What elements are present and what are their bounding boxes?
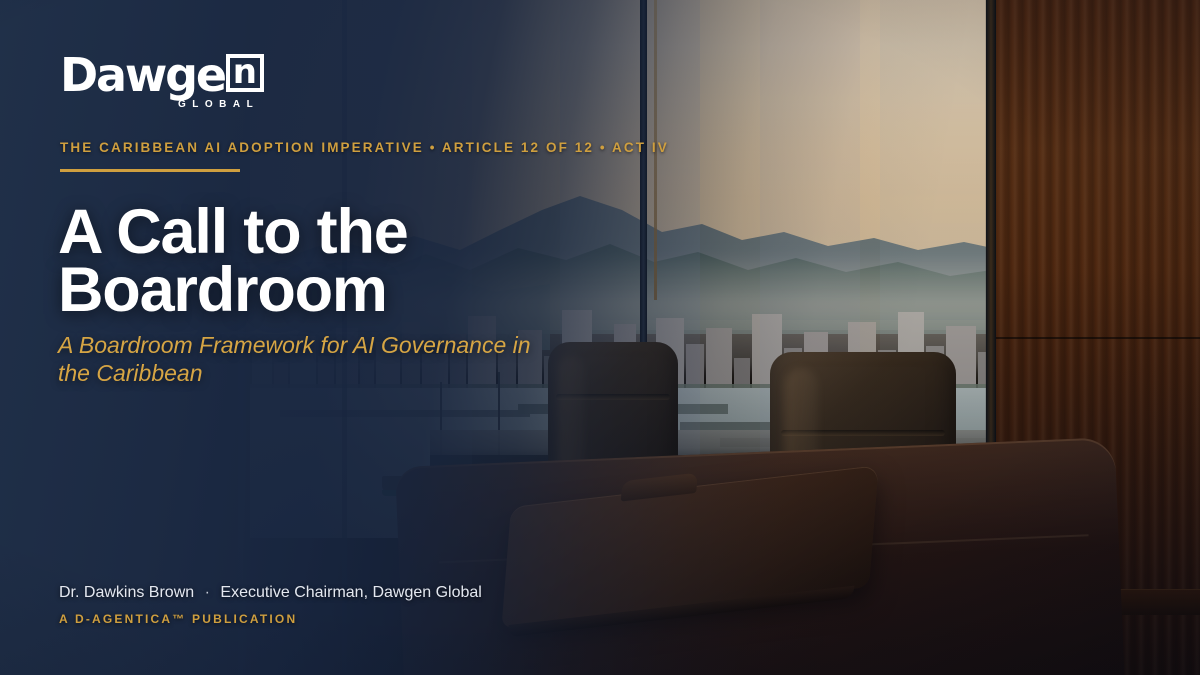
logo-subtext: GLOBAL [178, 99, 264, 110]
logo-box-outline: n [226, 54, 264, 92]
logo-boxed-letter: n [233, 55, 257, 89]
slide-content: Dawge n GLOBAL THE CARIBBEAN AI ADOPTION… [0, 0, 1200, 675]
byline-author: Dr. Dawkins Brown [59, 584, 194, 601]
byline: Dr. Dawkins Brown · Executive Chairman, … [59, 584, 482, 602]
page-subtitle: A Boardroom Framework for AI Governance … [58, 331, 548, 387]
page-title: A Call to the Boardroom [58, 204, 598, 320]
logo-wordmark: Dawge [60, 52, 225, 98]
byline-separator: · [205, 584, 210, 601]
title-slide: Dawge n GLOBAL THE CARIBBEAN AI ADOPTION… [0, 0, 1200, 675]
eyebrow-series-label: THE CARIBBEAN AI ADOPTION IMPERATIVE • A… [60, 140, 669, 155]
publication-label: A D-AGENTICA™ PUBLICATION [59, 612, 297, 626]
byline-role: Executive Chairman, Dawgen Global [220, 584, 481, 601]
dawgen-global-logo[interactable]: Dawge n GLOBAL [60, 52, 264, 110]
gold-divider-rule [60, 169, 240, 172]
